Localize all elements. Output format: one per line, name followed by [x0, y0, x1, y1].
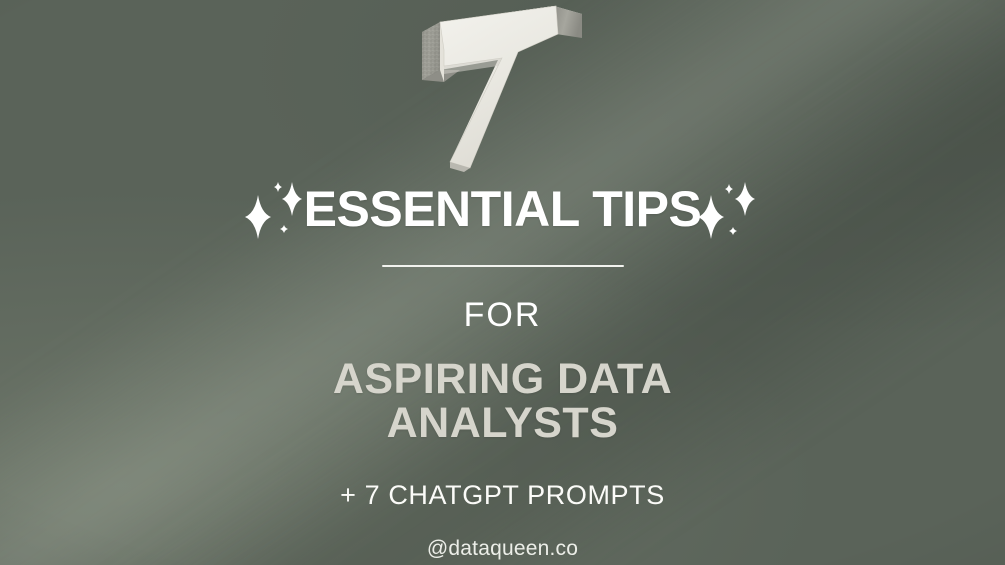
slide-canvas: ESSENTIAL TIPS FOR ASPIRING DATA ANALYST… — [0, 0, 1005, 565]
connector-text: FOR — [0, 298, 1005, 332]
account-handle: @dataqueen.co — [0, 538, 1005, 559]
number-seven-3d-icon — [406, 4, 596, 174]
sparkle-cluster-left — [242, 177, 312, 241]
sparkle-dot-small-icon — [274, 182, 282, 192]
horizontal-rule — [382, 265, 624, 267]
audience-line-1: ASPIRING DATA — [0, 358, 1005, 402]
headline-text: ESSENTIAL TIPS — [304, 184, 702, 234]
sparkle-dot-tiny-icon — [729, 227, 737, 235]
sparkle-dot-tiny-icon — [280, 225, 288, 233]
sparkle-star-medium-icon — [735, 182, 755, 216]
headline-row: ESSENTIAL TIPS — [0, 176, 1005, 242]
audience-heading: ASPIRING DATA ANALYSTS — [0, 358, 1005, 446]
sparkle-icons-right — [693, 177, 763, 241]
sparkle-star-large-icon — [698, 195, 724, 239]
sparkle-cluster-right — [693, 177, 763, 241]
sparkle-dot-small-icon — [725, 184, 733, 194]
numeral-container — [0, 4, 1005, 174]
sparkle-icons-left — [242, 177, 312, 241]
bonus-text: + 7 CHATGPT PROMPTS — [0, 482, 1005, 509]
audience-line-2: ANALYSTS — [0, 402, 1005, 446]
sparkle-star-medium-icon — [282, 182, 302, 216]
sparkle-star-large-icon — [245, 195, 271, 239]
